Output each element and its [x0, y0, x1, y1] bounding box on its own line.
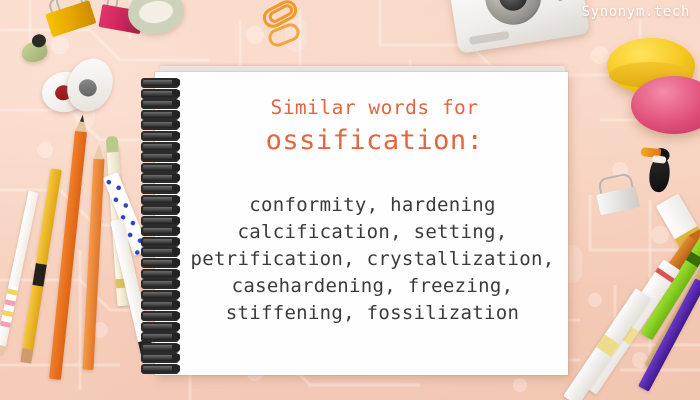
- spiral-coil: [141, 332, 177, 338]
- spiral-coil: [141, 226, 177, 232]
- spiral-coil-ring: [141, 205, 179, 215]
- spiral-coil-ring: [141, 364, 179, 374]
- spiral-coil: [141, 152, 177, 158]
- spiral-coil: [141, 205, 177, 211]
- spiral-coil: [141, 120, 177, 126]
- synonym-line: stiffening, fossilization: [189, 300, 556, 327]
- orange-pencil-2: [82, 158, 104, 370]
- spiral-coil: [141, 290, 177, 296]
- spiral-coil: [141, 78, 177, 84]
- spiral-coil-ring: [141, 353, 179, 363]
- spiral-coil: [141, 279, 177, 285]
- spiral-coil-ring: [141, 290, 179, 300]
- synonym-line: calcification, setting,: [189, 219, 556, 246]
- spiral-coil-ring: [141, 142, 179, 152]
- spiral-coil: [141, 237, 177, 243]
- spiral-coil-ring: [141, 237, 179, 247]
- spiral-coil-ring: [141, 99, 179, 109]
- spiral-coil-ring: [141, 216, 179, 226]
- spiral-coil-ring: [141, 343, 179, 353]
- spiral-coil: [141, 99, 177, 105]
- spiral-coil: [141, 195, 177, 201]
- spiral-coil-ring: [141, 110, 179, 120]
- washi-tape-roll: [125, 0, 187, 38]
- page-title: ossification:: [195, 125, 554, 156]
- spiral-coil-ring: [141, 173, 179, 183]
- spiral-coil-ring: [141, 78, 179, 88]
- white-marker-2: [563, 288, 651, 400]
- spiral-coil: [141, 322, 177, 328]
- spiral-coil: [141, 142, 177, 148]
- spiral-coil: [141, 353, 177, 359]
- spiral-coil: [141, 311, 177, 317]
- spiral-coil-ring: [141, 322, 179, 332]
- spiral-coil-ring: [141, 258, 179, 268]
- spiral-coil: [141, 184, 177, 190]
- spiral-coil: [141, 131, 177, 137]
- spiral-coil-ring: [141, 89, 179, 99]
- spiral-coil-ring: [141, 226, 179, 236]
- spiral-coil: [141, 300, 177, 306]
- spiral-coil: [141, 163, 177, 169]
- spiral-coil-ring: [141, 152, 179, 162]
- desk-scene: Similar words for ossification: conformi…: [0, 0, 700, 400]
- spiral-coil-ring: [141, 247, 179, 257]
- spiral-coil: [141, 89, 177, 95]
- spiral-coil: [141, 364, 177, 370]
- spiral-coil: [141, 269, 177, 275]
- orange-pencil: [49, 130, 87, 380]
- spiral-coil-ring: [141, 120, 179, 130]
- spiral-coil: [141, 110, 177, 116]
- spiral-coil-ring: [141, 279, 179, 289]
- spiral-coil: [141, 247, 177, 253]
- white-camera: [446, 0, 590, 54]
- toucan-figurine: [636, 144, 683, 196]
- spiral-coil-ring: [141, 300, 179, 310]
- synonym-line: conformity, hardening: [189, 192, 556, 219]
- spiral-binding: [141, 78, 183, 370]
- spiral-coil-ring: [141, 332, 179, 342]
- page-heading: Similar words for: [195, 96, 554, 119]
- site-logo: Synonym.tech: [582, 4, 690, 20]
- spiral-coil: [141, 343, 177, 349]
- synonym-line: petrification, crystallization,: [189, 246, 556, 273]
- spiral-coil: [141, 258, 177, 264]
- synonym-list: conformity, hardening calcification, set…: [189, 192, 556, 327]
- spiral-coil: [141, 173, 177, 179]
- spiral-coil-ring: [141, 163, 179, 173]
- notepad-content: Similar words for ossification: conformi…: [155, 72, 568, 375]
- spiral-coil-ring: [141, 311, 179, 321]
- synonym-line: casehardening, freezing,: [189, 273, 556, 300]
- spiral-coil-ring: [141, 131, 179, 141]
- spiral-coil-ring: [141, 184, 179, 194]
- yellow-binder-clip: [44, 0, 102, 43]
- spiral-coil: [141, 216, 177, 222]
- spiral-coil-ring: [141, 195, 179, 205]
- notepad: Similar words for ossification: conformi…: [155, 72, 568, 375]
- spiral-coil-ring: [141, 269, 179, 279]
- silver-binder-clip: [596, 182, 645, 219]
- bird-eraser: [15, 33, 51, 67]
- pink-macaron: [631, 76, 700, 134]
